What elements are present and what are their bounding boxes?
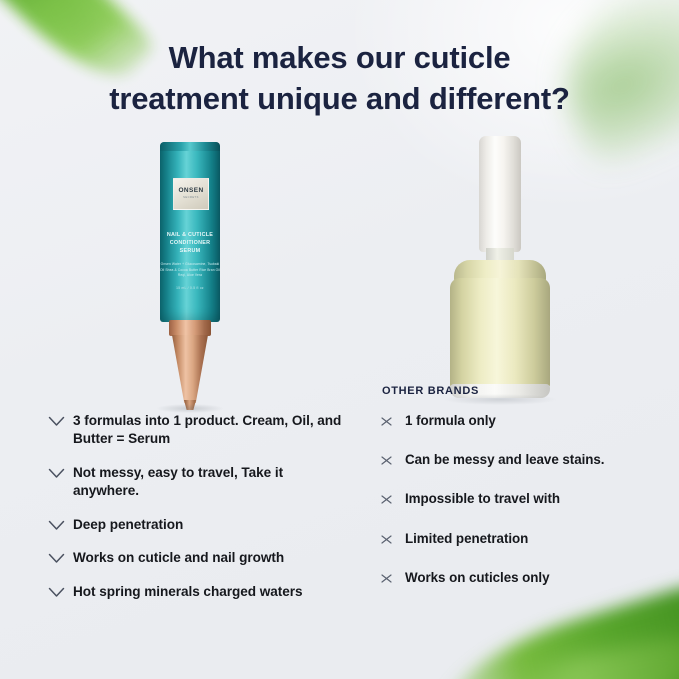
list-item-label: Not messy, easy to travel, Take it anywh…: [73, 464, 348, 501]
check-icon: [48, 549, 65, 564]
list-item: Impossible to travel with: [380, 490, 670, 508]
page-title: What makes our cuticle treatment unique …: [0, 37, 679, 119]
check-icon: [48, 516, 65, 531]
list-item-label: Can be messy and leave stains.: [405, 451, 604, 469]
other-brands-caption: OTHER BRANDS: [0, 385, 679, 397]
cross-icon: [380, 569, 397, 584]
list-item-label: Deep penetration: [73, 516, 183, 534]
comparison-columns: 3 formulas into 1 product. Cream, Oil, a…: [0, 412, 679, 662]
cross-icon: [380, 490, 397, 505]
other-brands-caption-text: OTHER BRANDS: [382, 385, 479, 397]
list-item-label: Limited penetration: [405, 530, 528, 548]
list-item: Deep penetration: [48, 516, 348, 534]
tube-neck: [169, 320, 211, 336]
bottle-cap: [479, 136, 521, 252]
list-item-label: Hot spring minerals charged waters: [73, 583, 302, 601]
list-item: 3 formulas into 1 product. Cream, Oil, a…: [48, 412, 348, 449]
list-item: Works on cuticles only: [380, 569, 670, 587]
check-icon: [48, 412, 65, 427]
list-item-label: Works on cuticle and nail growth: [73, 549, 284, 567]
tube-ingredients: Onsen Water + Glucosamine, Tsubaki Oil S…: [160, 262, 220, 278]
onsen-logo-badge: ONSEN SECRETS: [173, 178, 209, 210]
competitor-bottle-image: [432, 136, 572, 410]
tube-volume: 15 mL / 0.5 fl oz: [160, 286, 220, 291]
list-item-label: 1 formula only: [405, 412, 496, 430]
pros-column: 3 formulas into 1 product. Cream, Oil, a…: [48, 412, 348, 616]
tube-label-text: NAIL & CUTICLE CONDITIONER SERUM Onsen W…: [160, 232, 220, 291]
check-icon: [48, 464, 65, 479]
product-images: ONSEN SECRETS NAIL & CUTICLE CONDITIONER…: [0, 128, 679, 410]
list-item: Hot spring minerals charged waters: [48, 583, 348, 601]
cross-icon: [380, 412, 397, 427]
list-item-label: Impossible to travel with: [405, 490, 560, 508]
onsen-brand-sub: SECRETS: [183, 197, 199, 200]
list-item: Not messy, easy to travel, Take it anywh…: [48, 464, 348, 501]
page-title-line-2: treatment unique and different?: [0, 78, 679, 119]
list-item: Works on cuticle and nail growth: [48, 549, 348, 567]
bottle-body: [450, 278, 550, 392]
cross-icon: [380, 530, 397, 545]
check-icon: [48, 583, 65, 598]
onsen-brand-name: ONSEN: [178, 188, 203, 195]
list-item-label: 3 formulas into 1 product. Cream, Oil, a…: [73, 412, 348, 449]
tube-product-title: NAIL & CUTICLE CONDITIONER SERUM: [160, 232, 220, 255]
comparison-infographic: What makes our cuticle treatment unique …: [0, 0, 679, 679]
cons-column: 1 formula only Can be messy and leave st…: [380, 412, 670, 608]
list-item: 1 formula only: [380, 412, 670, 430]
cross-icon: [380, 451, 397, 466]
list-item: Can be messy and leave stains.: [380, 451, 670, 469]
list-item-label: Works on cuticles only: [405, 569, 550, 587]
list-item: Limited penetration: [380, 530, 670, 548]
page-title-line-1: What makes our cuticle: [0, 37, 679, 78]
tube-crimp: [160, 142, 220, 151]
onsen-tube-image: ONSEN SECRETS NAIL & CUTICLE CONDITIONER…: [143, 142, 239, 410]
